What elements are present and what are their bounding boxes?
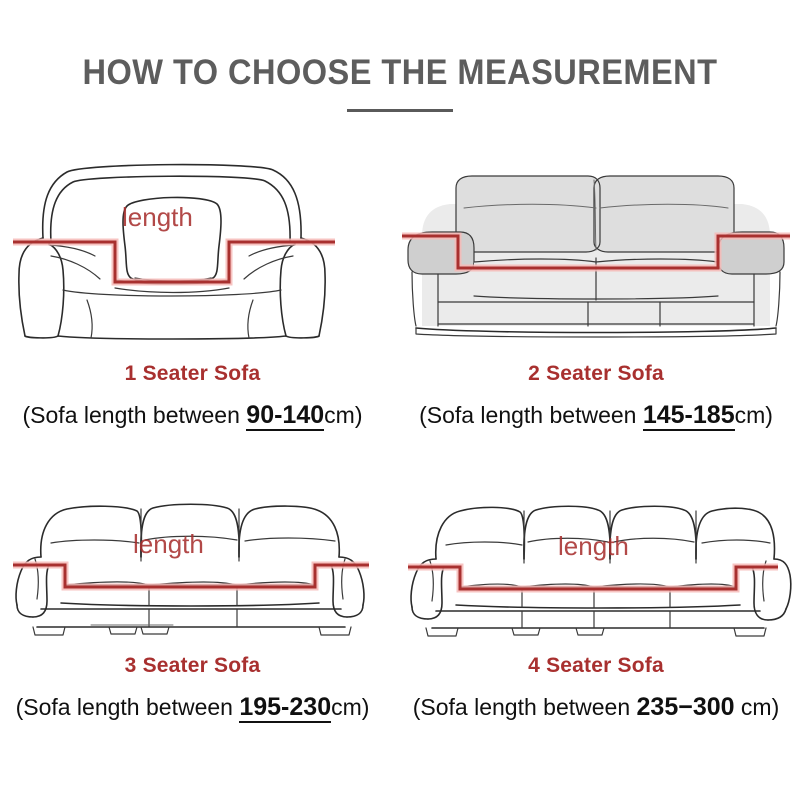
desc-prefix: (Sofa length between xyxy=(23,402,247,428)
sofa-illustration-2-seater xyxy=(398,150,794,350)
page-title: HOW TO CHOOSE THE MEASUREMENT xyxy=(28,55,772,92)
sofa-card-2-seater: 2 Seater Sofa (Sofa length between 145-1… xyxy=(398,150,794,430)
length-range-value: 235−300 xyxy=(637,693,735,721)
desc-suffix: cm) xyxy=(735,694,780,720)
sofa-title-2-seater: 2 Seater Sofa xyxy=(398,362,794,386)
measurement-guide-page: HOW TO CHOOSE THE MEASUREMENT xyxy=(0,0,800,800)
sofa-title-4-seater: 4 Seater Sofa xyxy=(398,654,794,678)
sofa-title-3-seater: 3 Seater Sofa xyxy=(5,654,380,678)
sofa-illustration-1-seater: length xyxy=(5,150,380,350)
length-range-value: 195-230 xyxy=(239,693,331,723)
sofa-desc-2-seater: (Sofa length between 145-185cm) xyxy=(398,401,794,430)
desc-prefix: (Sofa length between xyxy=(413,694,637,720)
title-divider xyxy=(347,109,453,112)
length-label-1-seater: length xyxy=(122,202,193,232)
desc-suffix: cm) xyxy=(324,402,362,428)
one-seater-drawing: length xyxy=(5,150,380,350)
two-seater-drawing xyxy=(398,150,794,350)
desc-suffix: cm) xyxy=(331,694,369,720)
length-label-4-seater: length xyxy=(558,531,629,561)
desc-prefix: (Sofa length between xyxy=(16,694,240,720)
sofa-desc-4-seater: (Sofa length between 235−300 cm) xyxy=(398,693,794,722)
sofa-illustration-4-seater: length xyxy=(398,485,794,640)
sofa-illustration-3-seater: length xyxy=(5,485,380,640)
sofa-card-1-seater: length 1 Seater Sofa (Sofa length betwee… xyxy=(5,150,380,430)
three-seater-drawing: length xyxy=(5,485,380,640)
sofa-desc-1-seater: (Sofa length between 90-140cm) xyxy=(5,401,380,430)
header: HOW TO CHOOSE THE MEASUREMENT xyxy=(0,55,800,112)
sofa-title-1-seater: 1 Seater Sofa xyxy=(5,362,380,386)
length-label-3-seater: length xyxy=(133,529,204,559)
sofa-desc-3-seater: (Sofa length between 195-230cm) xyxy=(5,693,380,722)
length-range-value: 90-140 xyxy=(246,401,324,431)
sofa-card-4-seater: length 4 Seater Sofa (Sofa length betwee… xyxy=(398,485,794,722)
length-range-value: 145-185 xyxy=(643,401,735,431)
four-seater-drawing: length xyxy=(398,485,794,640)
desc-prefix: (Sofa length between xyxy=(419,402,643,428)
sofa-card-3-seater: length 3 Seater Sofa (Sofa length betwee… xyxy=(5,485,380,722)
desc-suffix: cm) xyxy=(735,402,773,428)
